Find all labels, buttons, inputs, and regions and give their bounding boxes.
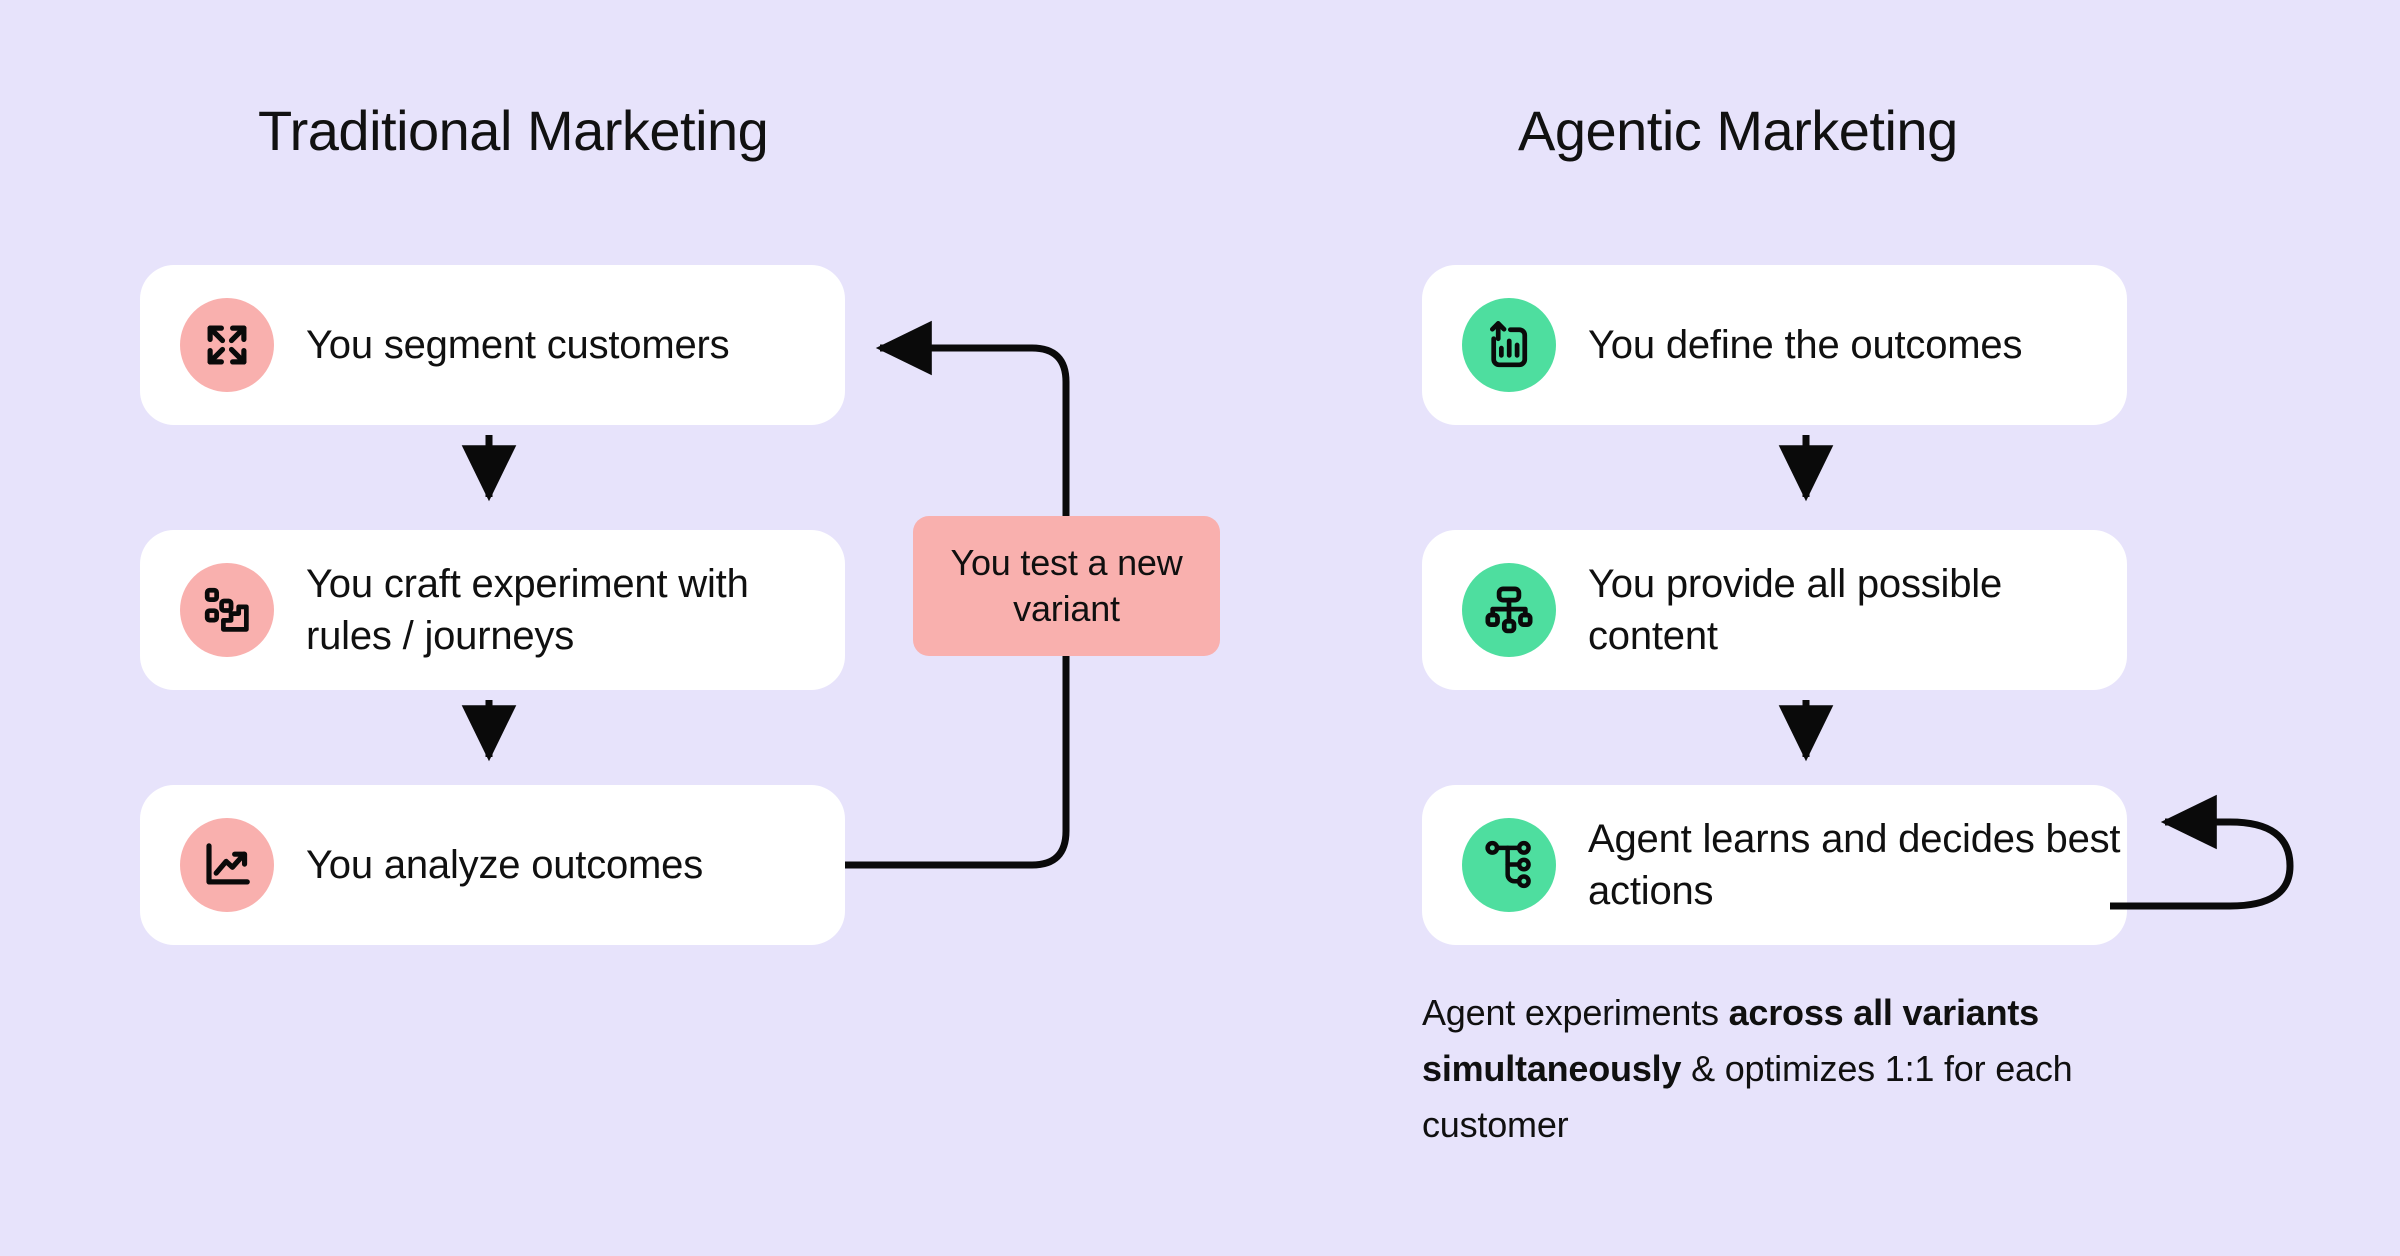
card-traditional-step-3[interactable]: You analyze outcomes bbox=[140, 785, 845, 945]
agentic-note-part-1: Agent experiments bbox=[1422, 992, 1729, 1033]
git-branch-nodes-icon bbox=[1462, 818, 1556, 912]
arrow-right-self-loop bbox=[2110, 822, 2290, 906]
bar-chart-arrow-up-icon bbox=[1462, 298, 1556, 392]
column-title-agentic: Agentic Marketing bbox=[1518, 98, 1958, 163]
card-label: You provide all possible content bbox=[1588, 558, 2127, 662]
card-label: Agent learns and decides best actions bbox=[1588, 813, 2127, 917]
card-label: You segment customers bbox=[306, 319, 729, 371]
card-agentic-step-3[interactable]: Agent learns and decides best actions bbox=[1422, 785, 2127, 945]
card-agentic-step-2[interactable]: You provide all possible content bbox=[1422, 530, 2127, 690]
card-traditional-step-1[interactable]: You segment customers bbox=[140, 265, 845, 425]
loop-node-label: You test a new variant bbox=[913, 540, 1220, 632]
card-label: You craft experiment with rules / journe… bbox=[306, 558, 845, 662]
agentic-note: Agent experiments across all variants si… bbox=[1422, 985, 2162, 1153]
loop-node-test-variant[interactable]: You test a new variant bbox=[913, 516, 1220, 656]
experiment-blocks-icon bbox=[180, 563, 274, 657]
line-chart-trend-up-icon bbox=[180, 818, 274, 912]
hierarchy-sitemap-icon bbox=[1462, 563, 1556, 657]
card-label: You analyze outcomes bbox=[306, 839, 703, 891]
card-agentic-step-1[interactable]: You define the outcomes bbox=[1422, 265, 2127, 425]
column-title-traditional: Traditional Marketing bbox=[258, 98, 768, 163]
card-label: You define the outcomes bbox=[1588, 319, 2022, 371]
expand-arrows-icon bbox=[180, 298, 274, 392]
card-traditional-step-2[interactable]: You craft experiment with rules / journe… bbox=[140, 530, 845, 690]
diagram-canvas: Traditional Marketing Agentic Marketing bbox=[0, 0, 2400, 1256]
